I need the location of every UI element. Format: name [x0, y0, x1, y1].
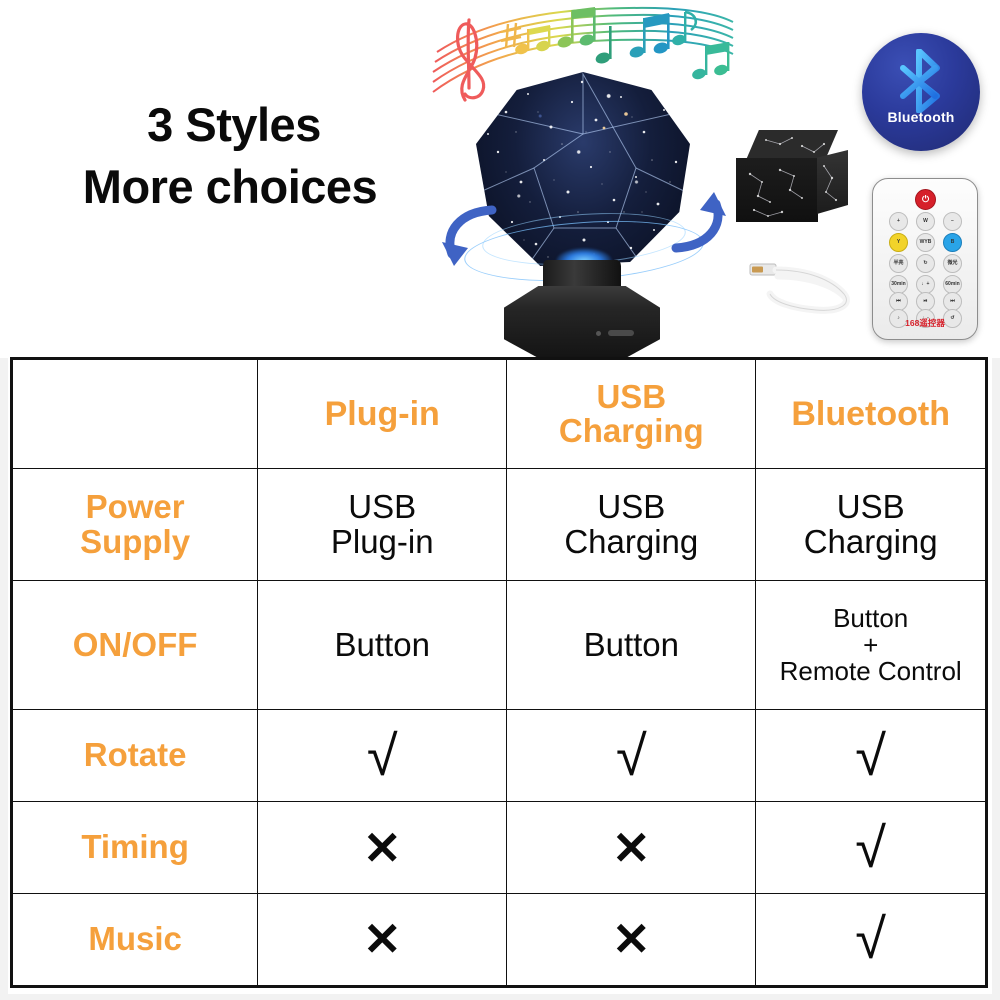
- cell-onoff-bluetooth: Button + Remote Control: [756, 581, 986, 710]
- constellation-gift-box: [736, 130, 852, 235]
- hero-section: 3 Styles More choices: [0, 0, 1000, 358]
- row-label-timing: Timing: [13, 802, 258, 894]
- header-usb-line-1: USB: [511, 380, 751, 414]
- remote-dim-button[interactable]: 半亮: [889, 254, 908, 273]
- rotation-arrow-right-icon: [666, 190, 730, 262]
- cell-rotate-usb: √: [507, 710, 756, 802]
- headline-line-2: More choices: [30, 162, 430, 212]
- cell-line-1: USB: [760, 490, 981, 525]
- usb-cable: [748, 250, 868, 320]
- row-label-line-1: Power: [17, 490, 253, 524]
- remote-model-label: 168遥控器: [873, 317, 977, 329]
- table-row: Power Supply USB Plug-in USB Charging US…: [13, 469, 986, 581]
- remote-plus-button[interactable]: +: [889, 212, 908, 231]
- header-cell-blank: [13, 360, 258, 469]
- remote-blue-button[interactable]: B: [943, 233, 962, 252]
- box-constellation-pattern-icon: [736, 130, 852, 235]
- rotation-arrow-left-icon: [438, 202, 502, 272]
- table-row: ON/OFF Button Button Button + Remote Con…: [13, 581, 986, 710]
- cell-line-1: USB: [511, 490, 751, 525]
- page-title: 3 Styles More choices: [30, 100, 430, 212]
- bluetooth-icon: [891, 49, 951, 113]
- projector-base: [504, 286, 660, 358]
- comparison-table: Plug-in USB Charging Bluetooth Power Sup…: [10, 357, 988, 988]
- remote-w-button[interactable]: W: [916, 212, 935, 231]
- cell-rotate-bluetooth: √: [756, 710, 986, 802]
- cell-timing-bluetooth: √: [756, 802, 986, 894]
- cell-line-1: Button: [760, 605, 981, 632]
- remote-power-button[interactable]: ⏻: [915, 189, 936, 210]
- cell-power-plugin: USB Plug-in: [258, 469, 507, 581]
- row-label-on-off: ON/OFF: [13, 581, 258, 710]
- cell-plus-separator: +: [760, 632, 981, 658]
- table-row: Music ✕ ✕ √: [13, 893, 986, 985]
- cell-timing-plugin: ✕: [258, 802, 507, 894]
- cell-power-bluetooth: USB Charging: [756, 469, 986, 581]
- base-indicator-led-icon: [596, 331, 601, 336]
- remote-soft-button[interactable]: 微光: [943, 254, 962, 273]
- cell-line-1: USB: [262, 490, 502, 525]
- cell-line-2: Remote Control: [760, 658, 981, 685]
- base-usb-port-icon: [608, 330, 634, 336]
- cell-onoff-plugin: Button: [258, 581, 507, 710]
- header-cell-bluetooth: Bluetooth: [756, 360, 986, 469]
- infographic-root: 3 Styles More choices: [0, 0, 1000, 1000]
- row-label-line-2: Supply: [17, 525, 253, 559]
- star-projector-lamp: [448, 72, 718, 358]
- headline-line-1: 3 Styles: [30, 100, 430, 150]
- cell-music-plugin: ✕: [258, 893, 507, 985]
- cell-line-2: Charging: [760, 525, 981, 560]
- cell-rotate-plugin: √: [258, 710, 507, 802]
- row-label-music: Music: [13, 893, 258, 985]
- header-usb-line-2: Charging: [511, 414, 751, 448]
- table-row: Timing ✕ ✕ √: [13, 802, 986, 894]
- cell-line-2: Plug-in: [262, 525, 502, 560]
- cell-music-bluetooth: √: [756, 893, 986, 985]
- table-row: Rotate √ √ √: [13, 710, 986, 802]
- row-label-rotate: Rotate: [13, 710, 258, 802]
- header-cell-usb-charging: USB Charging: [507, 360, 756, 469]
- bluetooth-badge: Bluetooth: [862, 33, 980, 151]
- bluetooth-badge-label: Bluetooth: [862, 109, 980, 125]
- row-label-power-supply: Power Supply: [13, 469, 258, 581]
- cell-line-2: Charging: [511, 525, 751, 560]
- cell-power-usb: USB Charging: [507, 469, 756, 581]
- header-cell-plugin: Plug-in: [258, 360, 507, 469]
- remote-yellow-button[interactable]: Y: [889, 233, 908, 252]
- cell-timing-usb: ✕: [507, 802, 756, 894]
- remote-control: ⏻ + W − Y WYB B 半亮 ↻ 微光 30min ♩+ 60min ⏮…: [872, 178, 978, 340]
- remote-rotate-button[interactable]: ↻: [916, 254, 935, 273]
- table-header-row: Plug-in USB Charging Bluetooth: [13, 360, 986, 469]
- remote-wyb-button[interactable]: WYB: [916, 233, 935, 252]
- cell-music-usb: ✕: [507, 893, 756, 985]
- cell-onoff-usb: Button: [507, 581, 756, 710]
- remote-minus-button[interactable]: −: [943, 212, 962, 231]
